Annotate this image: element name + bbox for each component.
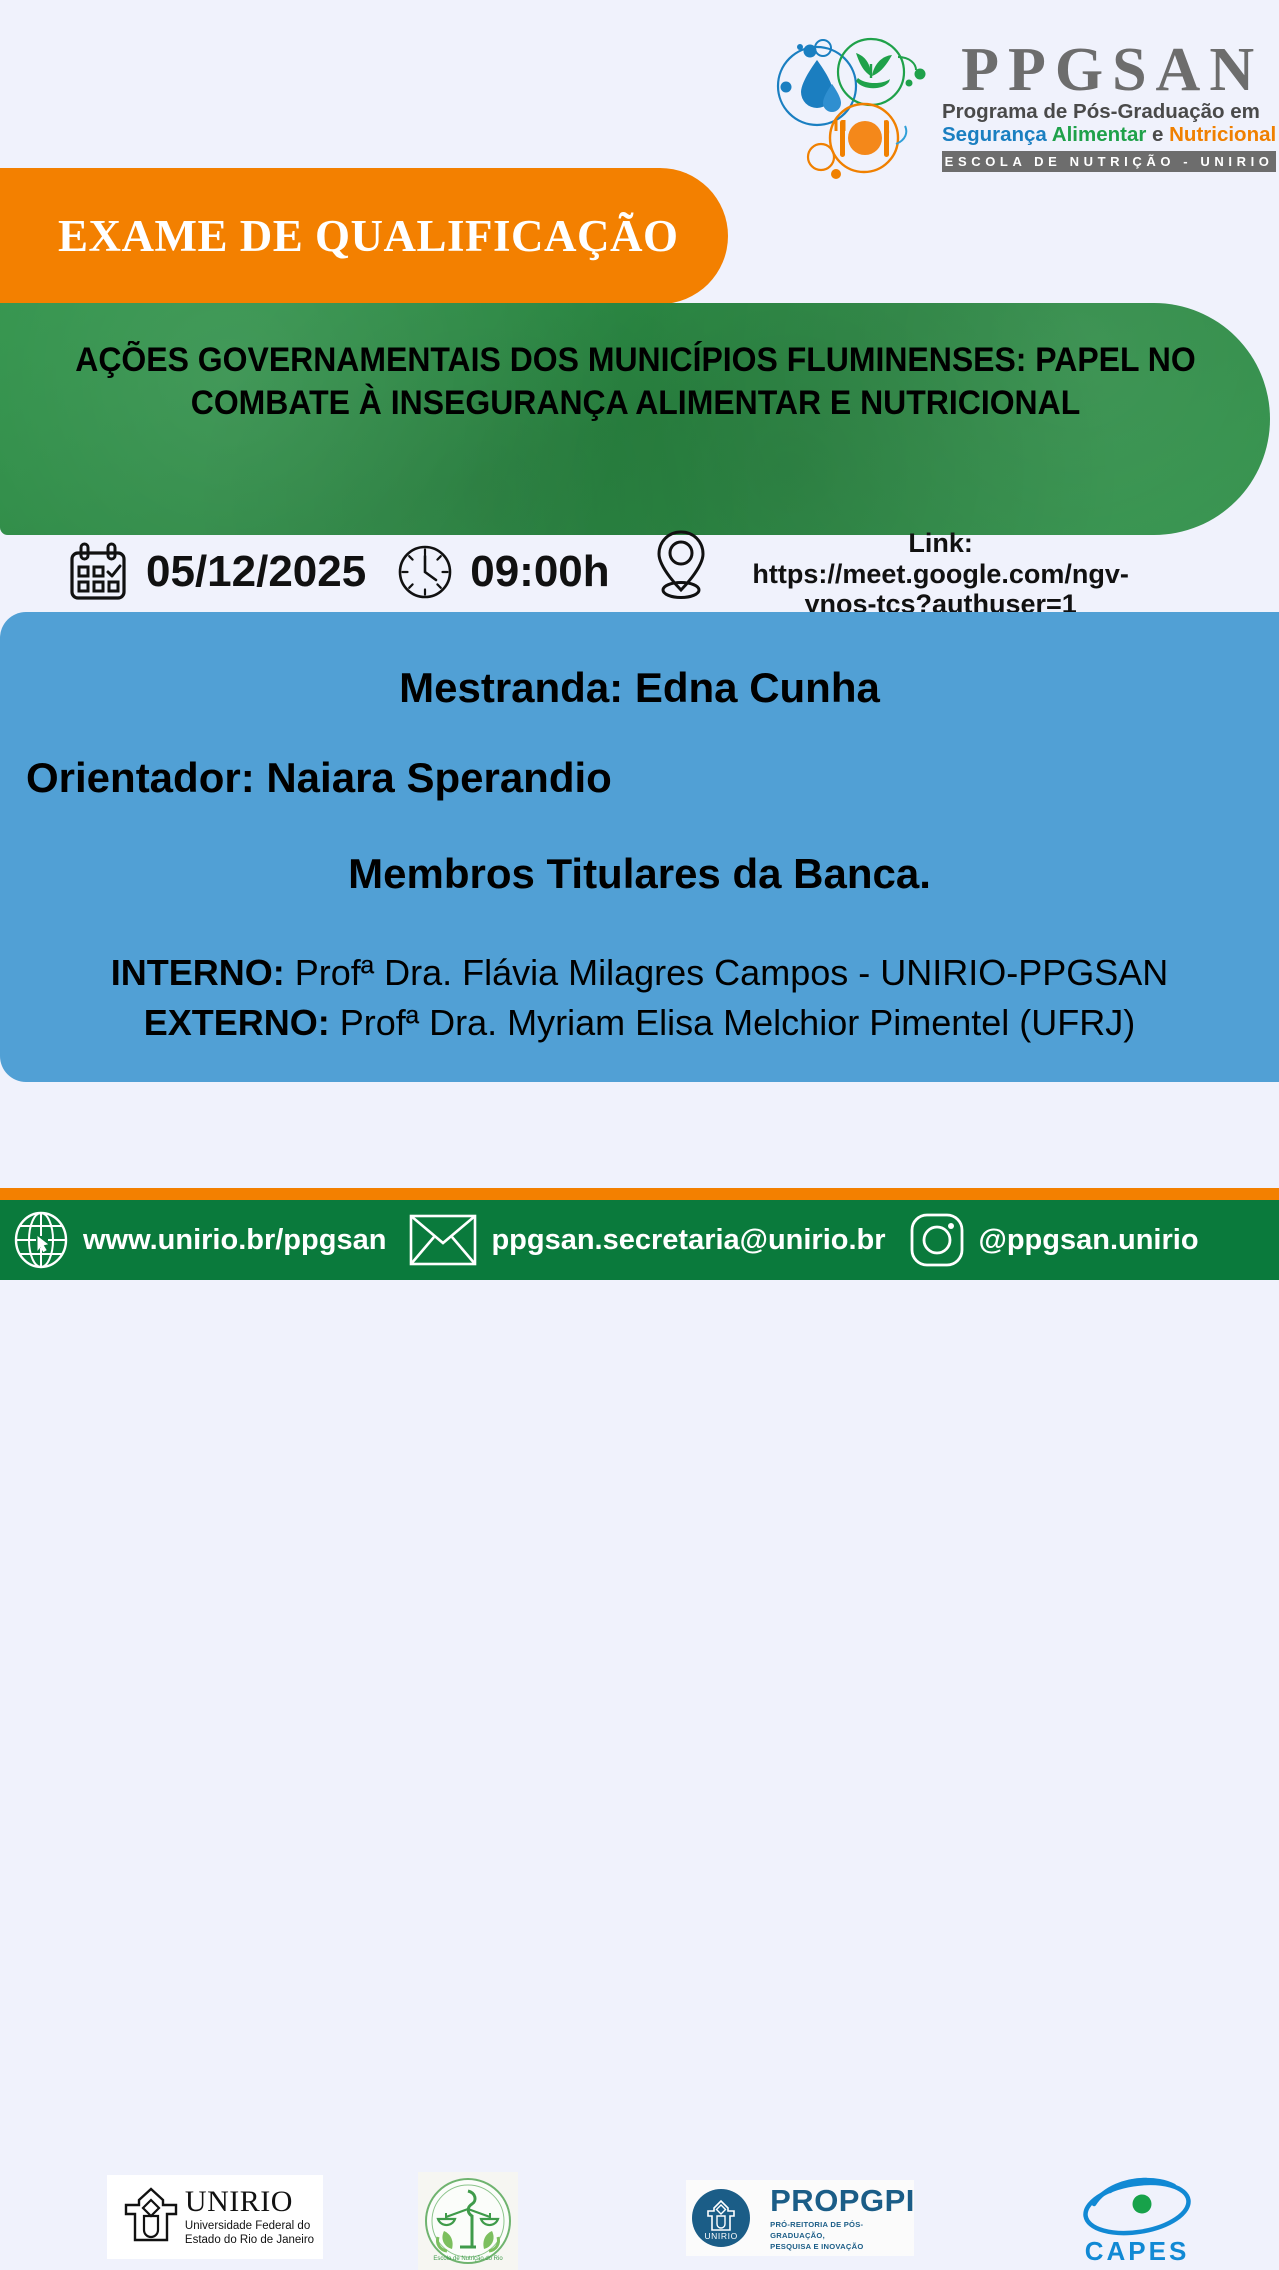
propgpi-subtitle: PRÓ-REITORIA DE PÓS-GRADUAÇÃO, PESQUISA … [770,2219,915,2252]
unirio-mark-icon [122,2187,180,2247]
ppgsan-tagline-2: Segurança Alimentar e Nutricional [942,124,1276,147]
committee-heading: Membros Titulares da Banca. [0,850,1279,898]
event-type-banner: EXAME DE QUALIFICAÇÃO [0,168,728,304]
internal-member-line: INTERNO: Profª Dra. Flávia Milagres Camp… [0,952,1279,994]
internal-member-name: Profª Dra. Flávia Milagres Campos - UNIR… [295,952,1169,993]
ppgsan-wordmark: PPGSAN Programa de Pós-Graduação em Segu… [942,41,1276,173]
unirio-name: UNIRIO [185,2187,314,2217]
contact-bar: www.unirio.br/ppgsan ppgsan.secretaria@u… [0,1200,1279,1280]
event-link[interactable]: Link: https://meet.google.com/ngv-ynos-t… [650,524,1157,620]
instagram-icon [908,1211,966,1269]
event-type-label: EXAME DE QUALIFICAÇÃO [0,210,679,262]
tagline-nutricional: Nutricional [1169,123,1276,146]
envelope-icon [408,1212,478,1268]
event-date-text: 05/12/2025 [146,547,366,597]
unirio-subtitle-line1: Universidade Federal do [185,2220,314,2234]
advisor-line: Orientador: Naiara Sperandio [26,754,612,802]
propgpi-text-block: PROPGPI PRÓ-REITORIA DE PÓS-GRADUAÇÃO, P… [770,2185,915,2252]
contact-instagram-text[interactable]: @ppgsan.unirio [979,1224,1199,1257]
ppgsan-school-bar: ESCOLA DE NUTRIÇÃO - UNIRIO [942,151,1276,172]
sponsor-logo-strip: UNIRIO Universidade Federal do Estado do… [0,1082,1279,1188]
unirio-subtitle-line2: Estado do Rio de Janeiro [185,2234,314,2248]
unirio-subtitle: Universidade Federal do Estado do Rio de… [185,2220,314,2247]
propgpi-subtitle-line1: PRÓ-REITORIA DE PÓS-GRADUAÇÃO, [770,2219,915,2241]
internal-member-label: INTERNO: [111,952,285,993]
event-time-text: 09:00h [470,547,609,597]
thesis-title-block: AÇÕES GOVERNAMENTAIS DOS MUNICÍPIOS FLUM… [0,303,1270,535]
contact-website-text[interactable]: www.unirio.br/ppgsan [83,1224,386,1257]
ppgsan-tagline-1: Programa de Pós-Graduação em [942,101,1276,124]
escola-seal-text: Escola de Nutrição do Rio [433,2256,503,2262]
propgpi-name: PROPGPI [770,2185,915,2216]
capes-mark-icon [1074,2174,1200,2238]
calendar-icon [66,540,130,604]
contact-email[interactable]: ppgsan.secretaria@unirio.br [408,1212,885,1268]
contact-instagram[interactable]: @ppgsan.unirio [908,1211,1199,1269]
event-date: 05/12/2025 [66,540,366,604]
student-line: Mestranda: Edna Cunha [0,664,1279,712]
propgpi-unirio-badge-icon: UNIRIO [692,2189,750,2247]
tagline-alimentar: Alimentar [1052,123,1152,146]
external-member-label: EXTERNO: [144,1002,330,1043]
ppgsan-acronym: PPGSAN [942,41,1276,100]
unirio-text-block: UNIRIO Universidade Federal do Estado do… [185,2187,314,2247]
unirio-logo-inner: UNIRIO Universidade Federal do Estado do… [116,2187,314,2247]
location-pin-icon [650,528,712,600]
propgpi-logo: UNIRIO PROPGPI PRÓ-REITORIA DE PÓS-GRADU… [686,2180,914,2256]
orange-divider-rule [0,1188,1279,1200]
escola-nutricao-seal: Escola de Nutrição do Rio [418,2172,518,2270]
contact-email-text[interactable]: ppgsan.secretaria@unirio.br [491,1224,885,1257]
contact-website[interactable]: www.unirio.br/ppgsan [12,1210,386,1270]
details-panel: Mestranda: Edna Cunha Orientador: Naiara… [0,612,1279,1082]
propgpi-subtitle-line2: PESQUISA E INOVAÇÃO [770,2241,915,2252]
globe-icon [12,1210,70,1270]
ppgsan-logo: PPGSAN Programa de Pós-Graduação em Segu… [770,34,1270,179]
external-member-line: EXTERNO: Profª Dra. Myriam Elisa Melchio… [0,1002,1279,1044]
propgpi-badge-label: UNIRIO [692,2231,750,2241]
clock-icon [396,543,454,601]
event-link-text[interactable]: Link: https://meet.google.com/ngv-ynos-t… [725,528,1157,620]
tagline-e: e [1152,123,1169,146]
ppgsan-logo-marks [770,34,930,179]
capes-logo: CAPES [1062,2172,1212,2268]
external-member-name: Profª Dra. Myriam Elisa Melchior Pimente… [340,1002,1135,1043]
thesis-title: AÇÕES GOVERNAMENTAIS DOS MUNICÍPIOS FLUM… [64,303,1206,425]
event-info-row: 05/12/2025 09:00h Link: [0,528,1279,616]
tagline-seguranca: Segurança [942,123,1052,146]
capes-name: CAPES [1085,2236,1190,2267]
event-time: 09:00h [396,543,609,601]
unirio-logo: UNIRIO Universidade Federal do Estado do… [107,2175,323,2259]
